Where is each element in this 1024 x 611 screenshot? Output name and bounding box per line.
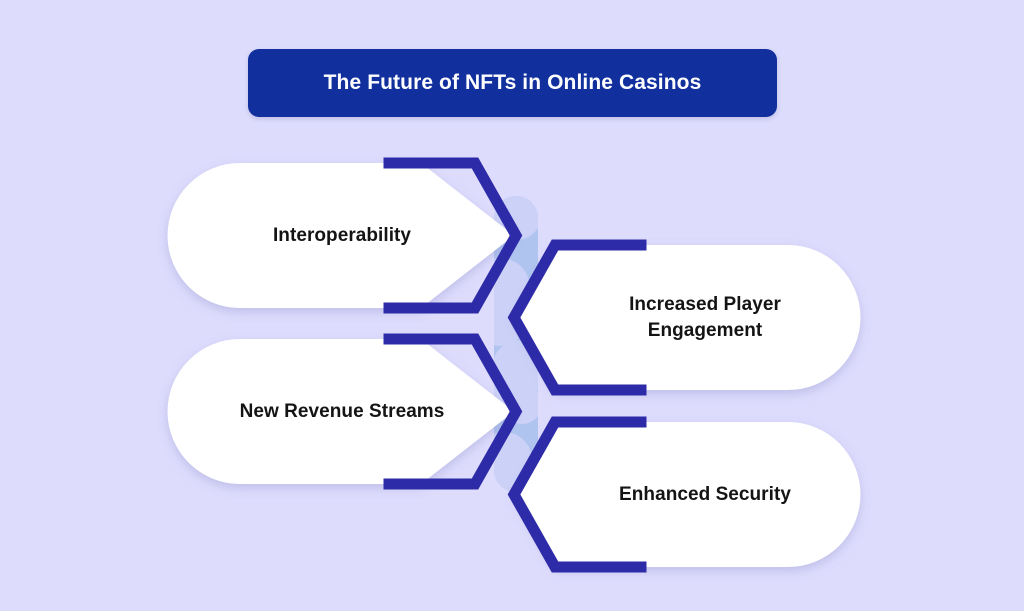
flow-node-label: Enhanced Security	[557, 417, 853, 572]
infographic-canvas: The Future of NFTs in Online Casinos Int…	[0, 0, 1024, 611]
flow-node-label-line1: Increased Player	[629, 294, 781, 315]
flow-node-label: New Revenue Streams	[187, 334, 497, 489]
flow-node-enhanced-security[interactable]: Enhanced Security	[505, 417, 865, 572]
page-title: The Future of NFTs in Online Casinos	[324, 71, 702, 95]
flow-node-label: Interoperability	[187, 158, 497, 313]
flow-node-interoperability[interactable]: Interoperability	[163, 158, 523, 313]
flow-node-label: Increased Player Engagement	[557, 240, 853, 395]
page-title-banner: The Future of NFTs in Online Casinos	[248, 49, 777, 117]
flow-node-label-line2: Engagement	[648, 320, 763, 341]
flow-node-new-revenue-streams[interactable]: New Revenue Streams	[163, 334, 523, 489]
flow-node-increased-player-engagement[interactable]: Increased Player Engagement	[505, 240, 865, 395]
